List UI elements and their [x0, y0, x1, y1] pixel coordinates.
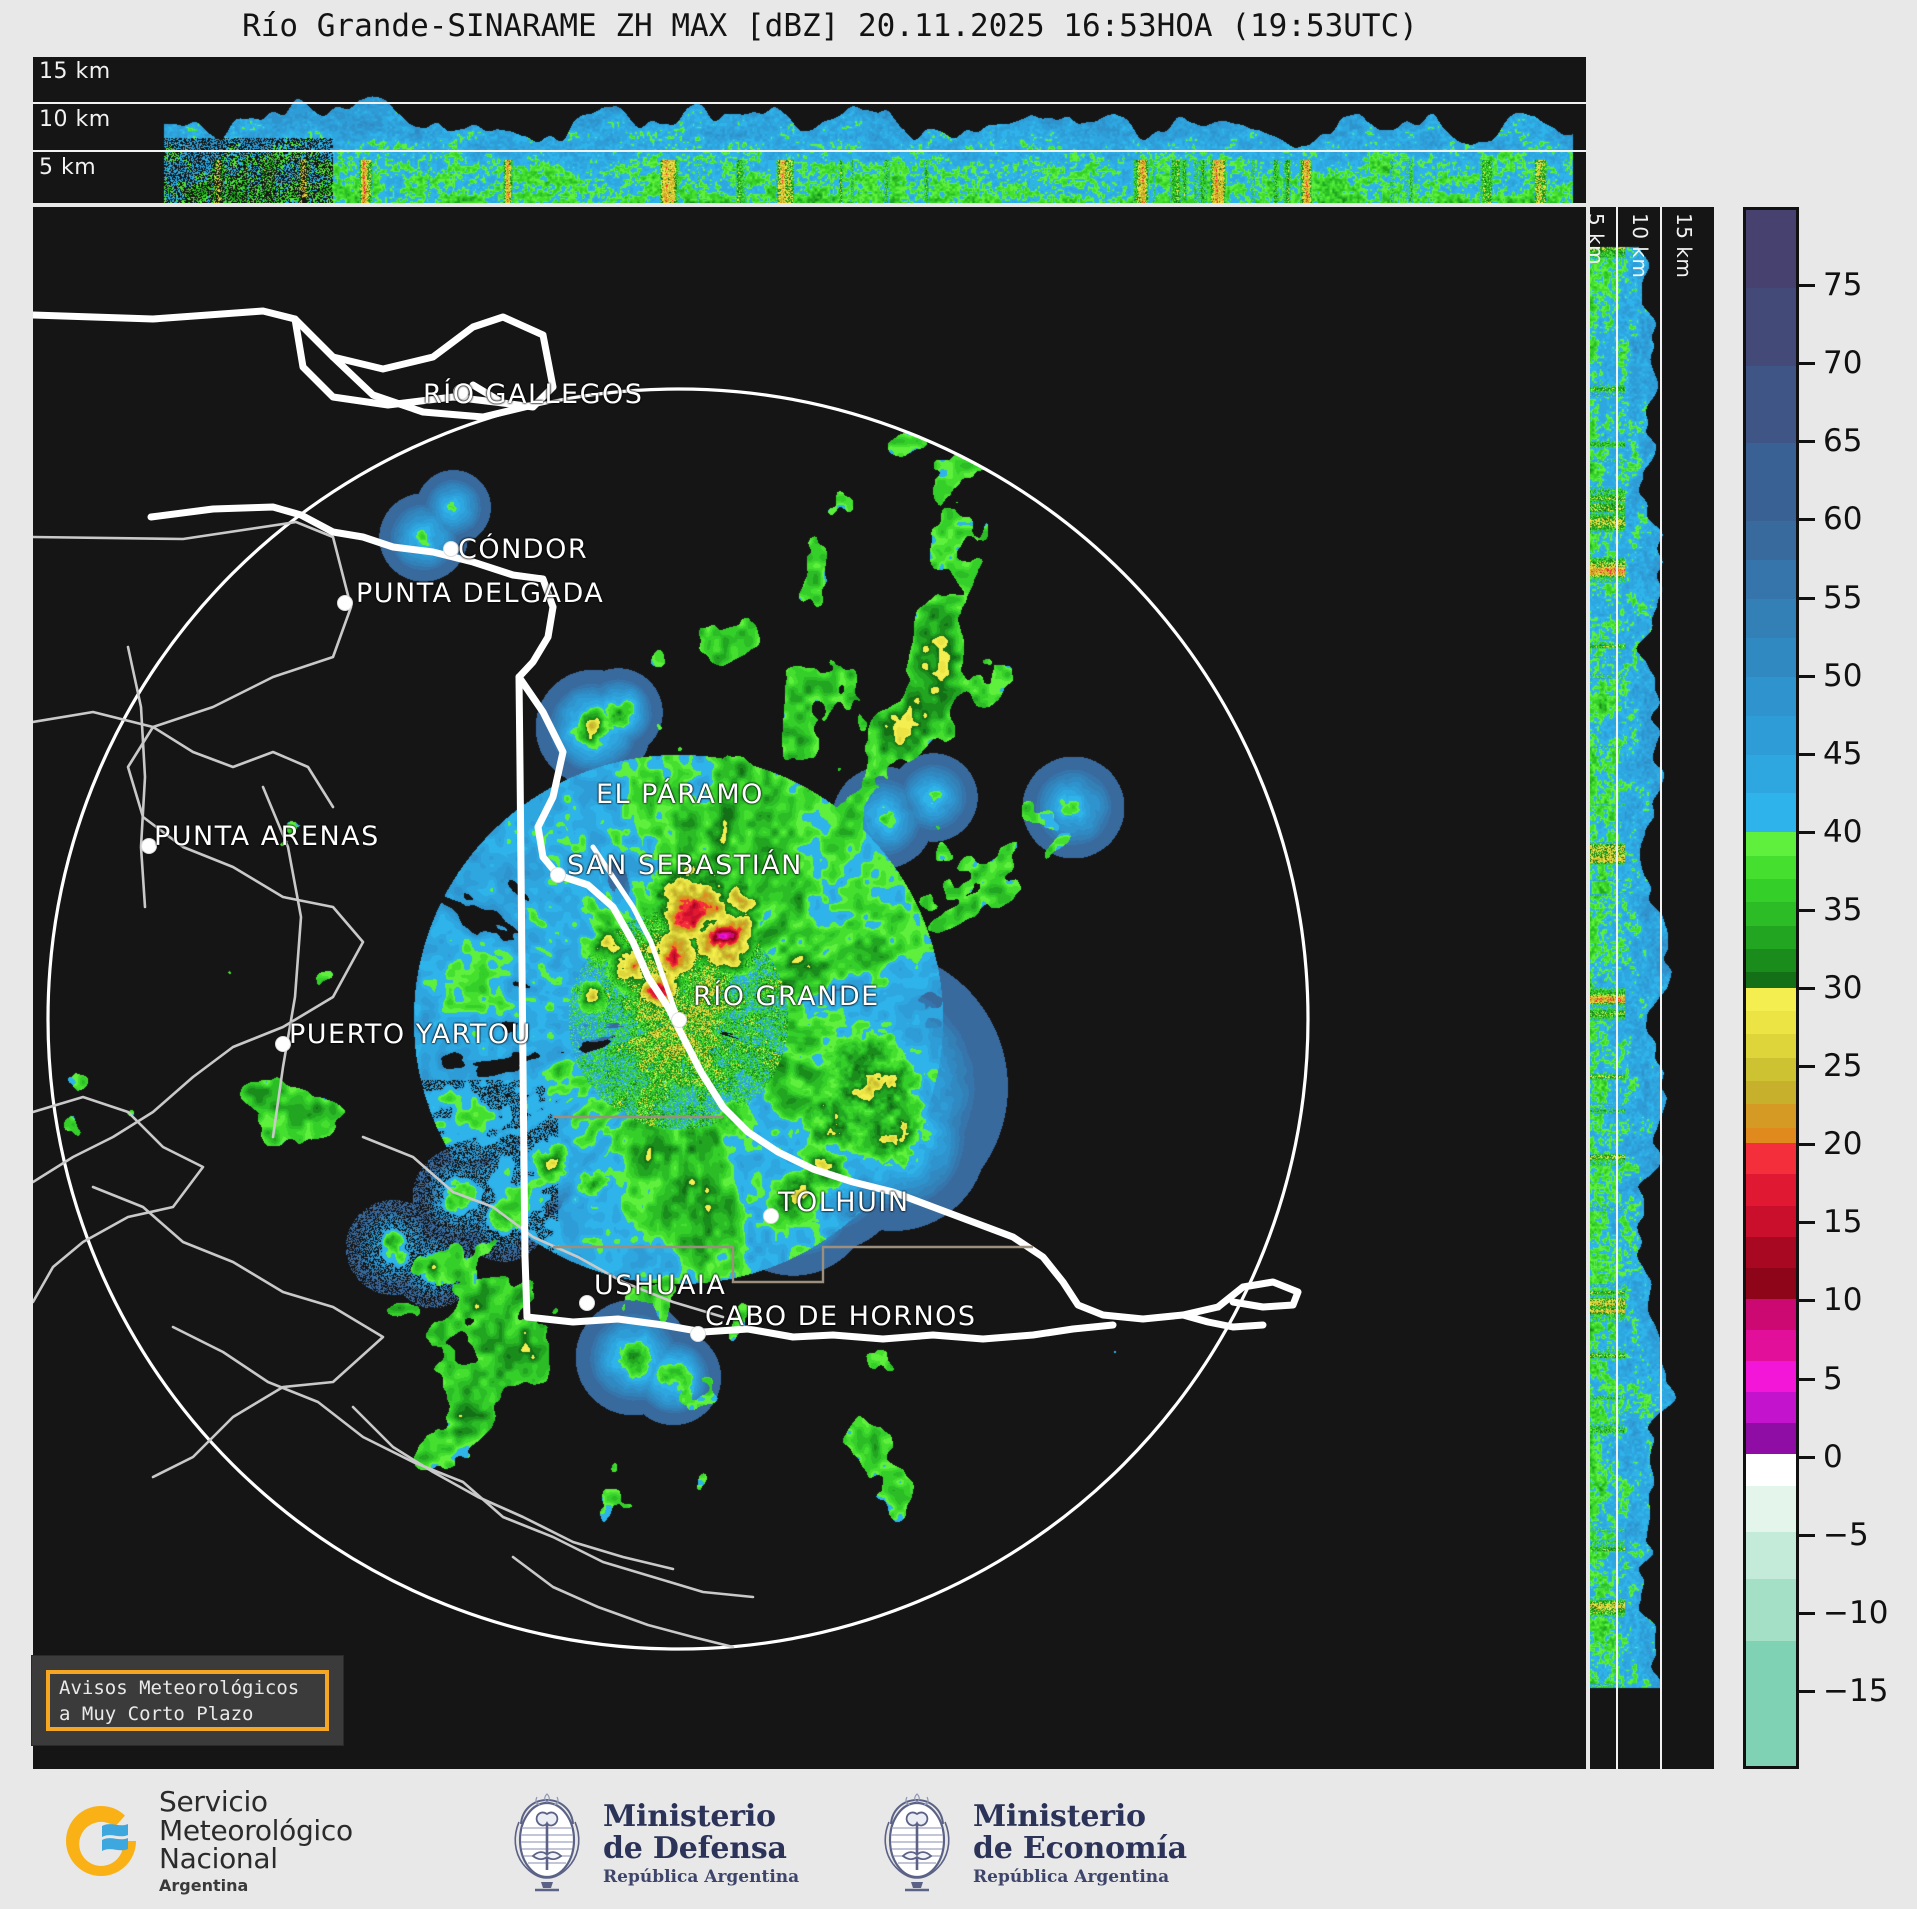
top-height-label-15km: 15 km [39, 59, 111, 84]
city-marker-dot[interactable] [337, 595, 353, 611]
city-marker-dot[interactable] [690, 1326, 706, 1342]
smn-subtitle: Argentina [159, 1878, 353, 1894]
smn-line-1: Servicio [159, 1788, 353, 1817]
defensa-line-2: de Defensa [603, 1833, 799, 1864]
colorbar-tick-mark [1799, 831, 1815, 834]
colorbar-segment [1746, 793, 1796, 832]
coastline-beagle-channel [527, 1317, 1113, 1339]
colorbar-segment [1746, 677, 1796, 716]
colorbar-tick-label: 15 [1823, 1204, 1862, 1240]
colorbar-segment [1746, 560, 1796, 599]
colorbar-segment [1746, 1104, 1796, 1127]
colorbar-segment [1746, 1058, 1796, 1081]
colorbar-segment [1746, 856, 1796, 879]
colorbar-tick-mark [1799, 753, 1815, 756]
height-gridline-10km [33, 150, 1586, 152]
coastline-west [33, 522, 363, 1182]
park-boundary-1 [553, 1247, 1033, 1282]
colorbar-tick-label: 40 [1823, 814, 1862, 850]
ministerio-economia-text: Ministerio de Economía República Argenti… [973, 1801, 1187, 1886]
coastline-isle-1 [33, 712, 333, 807]
city-marker-dot[interactable] [453, 384, 469, 400]
right-cross-section-panel: 5 km 10 km 15 km [1590, 207, 1714, 1769]
colorbar-tick-label: 10 [1823, 1282, 1862, 1318]
colorbar-segment [1746, 1174, 1796, 1205]
economia-line-2: de Economía [973, 1833, 1187, 1864]
height-gridline-15km [33, 102, 1586, 104]
colorbar-tick-label: 30 [1823, 970, 1862, 1006]
colorbar: −15−10−5051015202530354045505560657075 [1743, 207, 1799, 1769]
colorbar-segment [1746, 1486, 1796, 1533]
colorbar-tick-label: −5 [1823, 1517, 1869, 1553]
border-segment-2 [519, 607, 553, 677]
colorbar-tick-mark [1799, 440, 1815, 443]
coastline-isle-4 [173, 1327, 753, 1597]
city-marker-dot[interactable] [275, 1036, 291, 1052]
colorbar-tick-label: 25 [1823, 1048, 1862, 1084]
colorbar-segment [1746, 902, 1796, 925]
economia-line-1: Ministerio [973, 1801, 1187, 1832]
colorbar-tick-mark [1799, 1221, 1815, 1224]
colorbar-tick-mark [1799, 1378, 1815, 1381]
radar-ppi-panel[interactable]: RÍO GALLEGOSCÓNDORPUNTA DELGADAEL PÁRAMO… [33, 207, 1586, 1769]
city-marker-dot[interactable] [141, 838, 157, 854]
status-badge[interactable]: Avisos Meteorológicos a Muy Corto Plazo [31, 1655, 344, 1746]
colorbar-tick-label: 75 [1823, 267, 1862, 303]
defensa-line-1: Ministerio [603, 1801, 799, 1832]
page-title: Río Grande-SINARAME ZH MAX [dBZ] 20.11.2… [0, 8, 1660, 44]
colorbar-tick-mark [1799, 1456, 1815, 1459]
colorbar-tick-mark [1799, 987, 1815, 990]
colorbar-tick-mark [1799, 675, 1815, 678]
colorbar-segment [1746, 366, 1796, 444]
border-magallanes-north [151, 507, 553, 607]
colorbar-segment [1746, 972, 1796, 988]
colorbar-segment [1746, 210, 1796, 288]
colorbar-segment [1746, 1641, 1796, 1765]
logo-smn: Servicio Meteorológico Nacional Argentin… [55, 1788, 353, 1894]
rio-grande-river [593, 847, 678, 1019]
colorbar-segment [1746, 755, 1796, 794]
colorbar-segment [1746, 521, 1796, 560]
colorbar-tick-mark [1799, 1143, 1815, 1146]
colorbar-segment [1746, 599, 1796, 638]
top-cross-section-panel: 15 km 10 km 5 km [33, 57, 1586, 203]
colorbar-segment [1746, 1206, 1796, 1237]
colorbar-segment [1746, 1392, 1796, 1423]
colorbar-tick-label: 55 [1823, 580, 1862, 616]
city-marker-dot[interactable] [579, 1295, 595, 1311]
colorbar-segment [1746, 1011, 1796, 1034]
colorbar-tick-mark [1799, 1690, 1815, 1693]
colorbar-tick-mark [1799, 362, 1815, 365]
isla-estados [1218, 1282, 1298, 1307]
coastline-south-isles [353, 1407, 673, 1569]
city-marker-dot[interactable] [443, 541, 459, 557]
colorbar-segment [1746, 832, 1796, 855]
colorbar-tick-label: 20 [1823, 1126, 1862, 1162]
status-badge-line-1: Avisos Meteorológicos [59, 1675, 325, 1701]
colorbar-tick-label: 50 [1823, 658, 1862, 694]
colorbar-tick-label: 60 [1823, 501, 1862, 537]
colorbar-tick-label: 0 [1823, 1439, 1843, 1475]
coastline-beagle-north [363, 1137, 723, 1317]
colorbar-tick-label: 65 [1823, 423, 1862, 459]
colorbar-segment [1746, 879, 1796, 902]
coastline-isle-3 [93, 1187, 383, 1477]
right-cross-section-image [1590, 207, 1714, 1769]
colorbar-tick-label: −10 [1823, 1595, 1888, 1631]
top-cross-section-image [33, 57, 1586, 203]
colorbar-tick-label: 45 [1823, 736, 1862, 772]
colorbar-tick-mark [1799, 1612, 1815, 1615]
colorbar-segment [1746, 716, 1796, 755]
isla-tail [1183, 1315, 1263, 1327]
smn-logo-icon [55, 1795, 147, 1887]
logo-ministerio-defensa: Ministerio de Defensa República Argentin… [505, 1792, 799, 1896]
top-height-label-10km: 10 km [39, 107, 111, 132]
colorbar-tick-mark [1799, 284, 1815, 287]
right-height-label-15km: 15 km [1672, 213, 1696, 278]
colorbar-tick-label: 5 [1823, 1361, 1843, 1397]
ministerio-defensa-text: Ministerio de Defensa República Argentin… [603, 1801, 799, 1886]
colorbar-segment [1746, 1330, 1796, 1361]
river-grey-1 [263, 787, 301, 1137]
colorbar-segment [1746, 1423, 1796, 1454]
smn-line-2: Meteorológico [159, 1817, 353, 1846]
colorbar-segment [1746, 926, 1796, 949]
colorbar-tick-label: 35 [1823, 892, 1862, 928]
colorbar-segment [1746, 1034, 1796, 1057]
height-gridline-5km-v [1616, 207, 1618, 1769]
colorbar-segment [1746, 949, 1796, 972]
colorbar-tick-label: −15 [1823, 1673, 1888, 1709]
colorbar-segment [1746, 1237, 1796, 1268]
footer-logos: Servicio Meteorológico Nacional Argentin… [0, 1780, 1917, 1909]
colorbar-tick-mark [1799, 597, 1815, 600]
colorbar-segment [1746, 988, 1796, 1011]
colorbar-segment [1746, 288, 1796, 366]
colorbar-segment [1746, 1143, 1796, 1174]
colorbar-tick-mark [1799, 1534, 1815, 1537]
colorbar-segment [1746, 1579, 1796, 1641]
colorbar-segment [1746, 1361, 1796, 1392]
city-marker-dot[interactable] [550, 867, 566, 883]
status-badge-frame: Avisos Meteorológicos a Muy Corto Plazo [46, 1670, 329, 1731]
colorbar-segment [1746, 1454, 1796, 1485]
colorbar-tick-mark [1799, 1065, 1815, 1068]
colorbar-gradient [1743, 207, 1799, 1769]
geography-overlay [33, 207, 1586, 1769]
colorbar-tick-mark [1799, 909, 1815, 912]
right-height-label-5km: 5 km [1590, 213, 1608, 265]
argentina-coat-of-arms-icon [505, 1792, 589, 1896]
city-marker-dot[interactable] [763, 1208, 779, 1224]
right-height-label-10km: 10 km [1628, 213, 1652, 278]
colorbar-segment [1746, 1128, 1796, 1144]
city-marker-dot[interactable] [671, 1012, 687, 1028]
colorbar-segment [1746, 1081, 1796, 1104]
border-meridian-68w [519, 677, 527, 1317]
defensa-subtitle: República Argentina [603, 1869, 799, 1887]
coastline-atlantic-tdf [519, 677, 1218, 1319]
smn-logo-text: Servicio Meteorológico Nacional Argentin… [159, 1788, 353, 1894]
colorbar-ticks: −15−10−5051015202530354045505560657075 [1799, 207, 1917, 1769]
colorbar-tick-mark [1799, 1299, 1815, 1302]
colorbar-segment [1746, 1299, 1796, 1330]
status-badge-line-2: a Muy Corto Plazo [59, 1701, 325, 1727]
colorbar-tick-label: 70 [1823, 345, 1862, 381]
argentina-coat-of-arms-icon [875, 1792, 959, 1896]
logo-ministerio-economia: Ministerio de Economía República Argenti… [875, 1792, 1187, 1896]
top-height-label-5km: 5 km [39, 155, 96, 180]
colorbar-segment [1746, 443, 1796, 521]
economia-subtitle: República Argentina [973, 1869, 1187, 1887]
colorbar-segment [1746, 638, 1796, 677]
height-gridline-10km-v [1660, 207, 1662, 1769]
colorbar-tick-mark [1799, 518, 1815, 521]
smn-line-3: Nacional [159, 1845, 353, 1874]
colorbar-segment [1746, 1532, 1796, 1579]
colorbar-segment [1746, 1268, 1796, 1299]
